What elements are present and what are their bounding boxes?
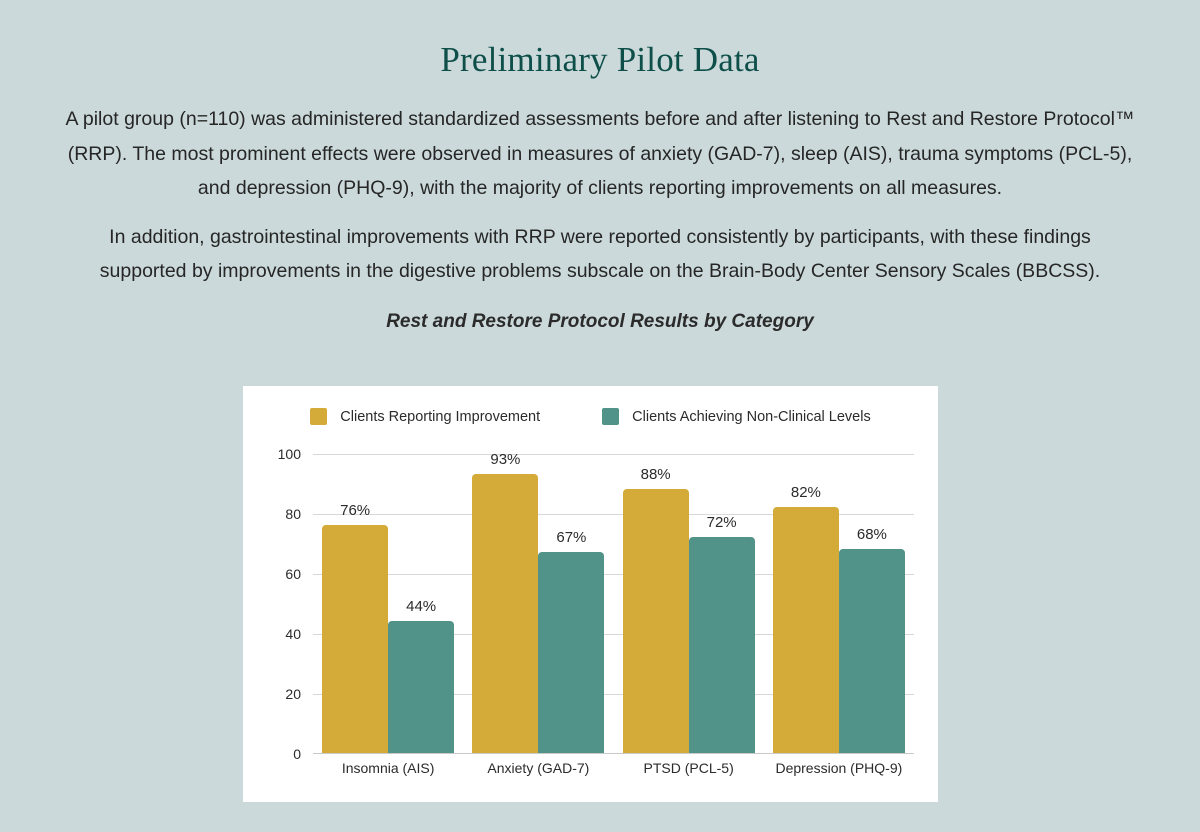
axis-baseline bbox=[313, 753, 914, 754]
bar-depression-improvement[interactable]: 82% bbox=[773, 507, 839, 753]
y-tick-20: 20 bbox=[285, 686, 313, 702]
x-label-ptsd: PTSD (PCL-5) bbox=[614, 760, 764, 776]
bar-value-depression-nonclinical: 68% bbox=[857, 526, 887, 543]
chart-card: Clients Reporting Improvement Clients Ac… bbox=[243, 386, 938, 802]
x-axis-labels: Insomnia (AIS) Anxiety (GAD-7) PTSD (PCL… bbox=[313, 760, 914, 776]
y-tick-0: 0 bbox=[293, 746, 313, 762]
bar-depression-nonclinical[interactable]: 68% bbox=[839, 549, 905, 753]
bar-ptsd-nonclinical[interactable]: 72% bbox=[689, 537, 755, 753]
body-copy: A pilot group (n=110) was administered s… bbox=[65, 80, 1135, 289]
legend-item-improvement[interactable]: Clients Reporting Improvement bbox=[310, 408, 540, 425]
y-tick-100: 100 bbox=[278, 446, 313, 462]
plot-area: 100 80 60 40 20 0 76% 44% bbox=[299, 454, 914, 754]
x-label-insomnia: Insomnia (AIS) bbox=[313, 760, 463, 776]
bar-groups: 76% 44% 93% 67% 88% bbox=[313, 454, 914, 753]
bar-anxiety-nonclinical[interactable]: 67% bbox=[538, 552, 604, 753]
bar-group-ptsd: 88% 72% bbox=[614, 454, 764, 753]
bar-group-insomnia: 76% 44% bbox=[313, 454, 463, 753]
y-tick-80: 80 bbox=[285, 506, 313, 522]
bar-anxiety-improvement[interactable]: 93% bbox=[472, 474, 538, 753]
legend-item-nonclinical[interactable]: Clients Achieving Non-Clinical Levels bbox=[602, 408, 871, 425]
y-tick-60: 60 bbox=[285, 566, 313, 582]
bar-insomnia-improvement[interactable]: 76% bbox=[322, 525, 388, 753]
bar-value-insomnia-nonclinical: 44% bbox=[406, 598, 436, 615]
paragraph-2: In addition, gastrointestinal improvemen… bbox=[65, 220, 1135, 289]
x-label-anxiety: Anxiety (GAD-7) bbox=[463, 760, 613, 776]
bar-value-depression-improvement: 82% bbox=[791, 484, 821, 501]
bar-group-anxiety: 93% 67% bbox=[463, 454, 613, 753]
page-title: Preliminary Pilot Data bbox=[0, 0, 1200, 80]
bar-insomnia-nonclinical[interactable]: 44% bbox=[388, 621, 454, 753]
chart-title: Rest and Restore Protocol Results by Cat… bbox=[0, 311, 1200, 333]
legend-label-nonclinical: Clients Achieving Non-Clinical Levels bbox=[632, 409, 871, 425]
bar-ptsd-improvement[interactable]: 88% bbox=[623, 489, 689, 753]
bar-value-ptsd-improvement: 88% bbox=[641, 466, 671, 483]
bar-value-anxiety-improvement: 93% bbox=[490, 451, 520, 468]
bar-value-ptsd-nonclinical: 72% bbox=[707, 514, 737, 531]
legend-swatch-nonclinical bbox=[602, 408, 619, 425]
slide-page: Preliminary Pilot Data A pilot group (n=… bbox=[0, 0, 1200, 832]
legend-label-improvement: Clients Reporting Improvement bbox=[340, 409, 540, 425]
y-tick-40: 40 bbox=[285, 626, 313, 642]
legend-swatch-improvement bbox=[310, 408, 327, 425]
bar-value-insomnia-improvement: 76% bbox=[340, 502, 370, 519]
x-label-depression: Depression (PHQ-9) bbox=[764, 760, 914, 776]
paragraph-1: A pilot group (n=110) was administered s… bbox=[65, 102, 1135, 206]
bar-value-anxiety-nonclinical: 67% bbox=[556, 529, 586, 546]
bar-group-depression: 82% 68% bbox=[764, 454, 914, 753]
chart-legend: Clients Reporting Improvement Clients Ac… bbox=[243, 408, 938, 425]
